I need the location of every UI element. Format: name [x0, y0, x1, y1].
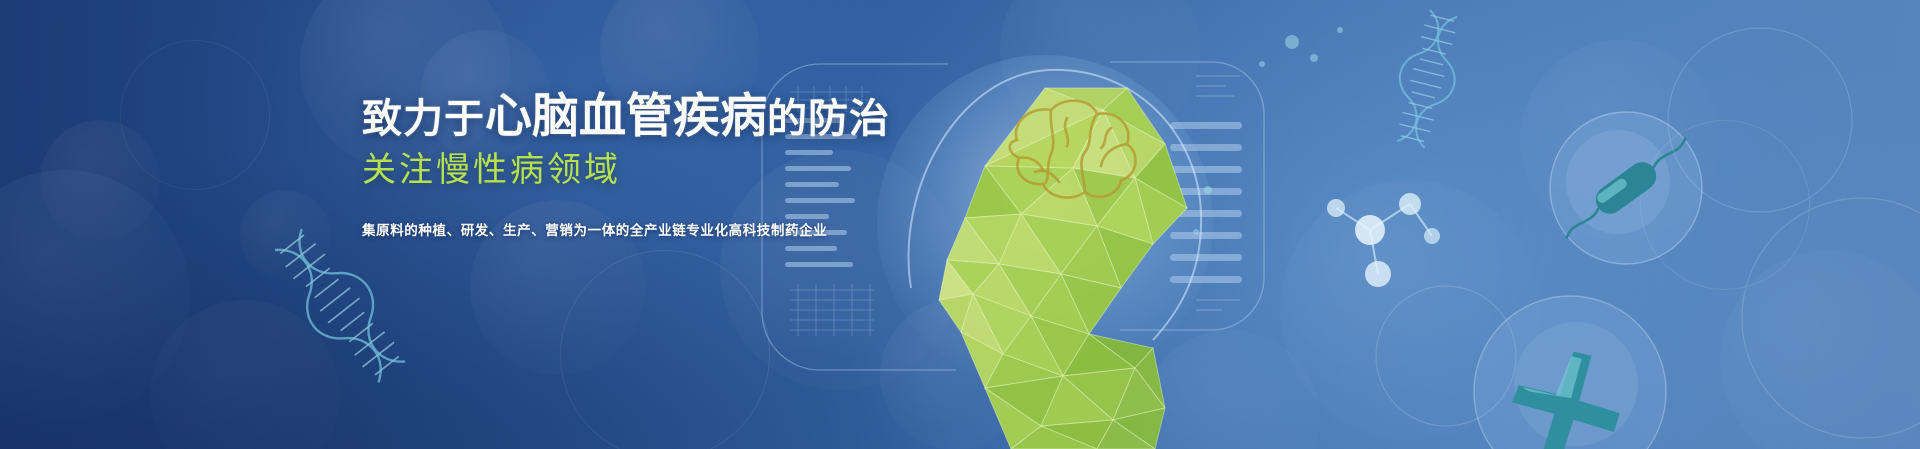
- dna-helix-right-icon: [1384, 7, 1470, 151]
- tagline: 集原料的种植、研发、生产、营销为一体的全产业链专业化高科技制药企业: [362, 219, 1122, 239]
- bokeh-circle: [1640, 120, 1810, 290]
- molecule-icon: [1327, 193, 1440, 287]
- headline-suffix: 的防治: [767, 97, 890, 141]
- hero-banner: 致力于心脑血管疾病的防治 关注慢性病领域 集原料的种植、研发、生产、营销为一体的…: [0, 0, 1920, 449]
- headline-emphasis: 心脑血管疾病: [485, 89, 767, 142]
- subheadline: 关注慢性病领域: [362, 153, 1122, 187]
- headline: 致力于心脑血管疾病的防治: [362, 92, 1122, 139]
- right-glow-circles: [1376, 28, 1920, 438]
- bokeh-circle: [1520, 40, 1720, 240]
- bokeh-circle: [1720, 250, 1920, 449]
- headline-prefix: 致力于: [362, 97, 485, 141]
- bokeh-circle: [1280, 180, 1540, 440]
- virus-cell-icon: [1474, 296, 1666, 449]
- hero-copy: 致力于心脑血管疾病的防治 关注慢性病领域 集原料的种植、研发、生产、营销为一体的…: [362, 92, 1122, 239]
- bacteria-cell-icon: [1550, 112, 1702, 264]
